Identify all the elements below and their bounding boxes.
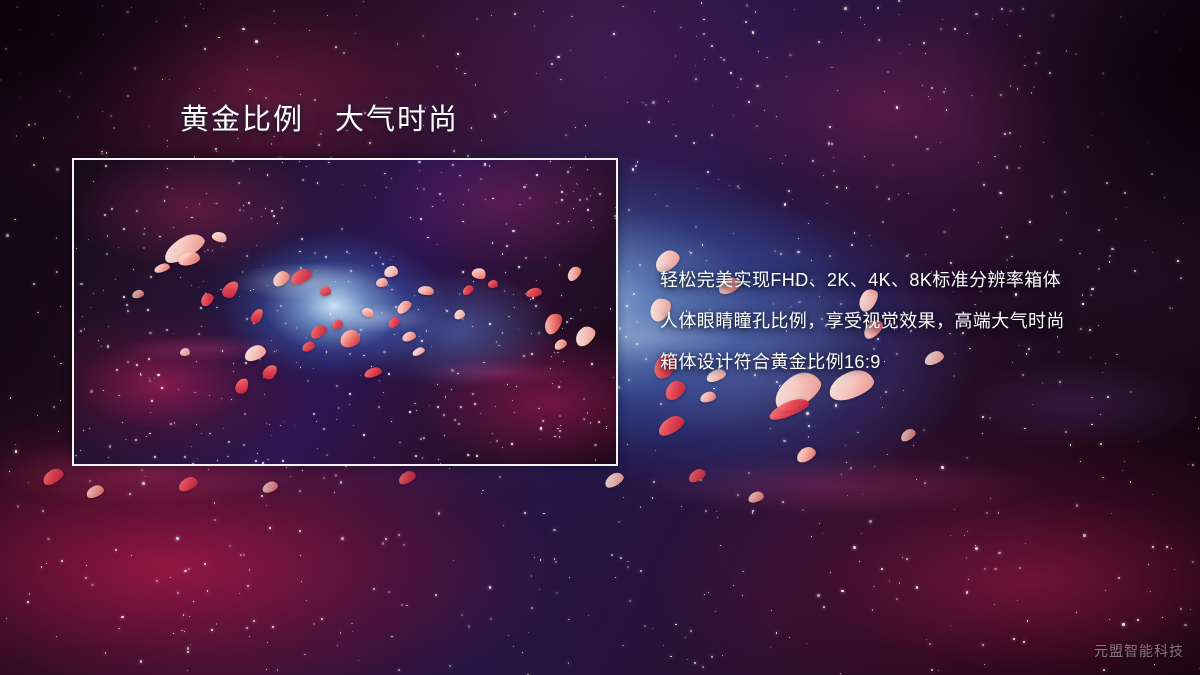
- body-text-block: 轻松完美实现FHD、2K、4K、8K标准分辨率箱体 人体眼睛瞳孔比例，享受视觉效…: [660, 260, 1152, 383]
- framed-starfield: [74, 160, 616, 464]
- presentation-slide: 黄金比例 大气时尚 轻松完美实现FHD、2K、4K、8K标准分辨率箱体 人体眼睛…: [0, 0, 1200, 675]
- page-title: 黄金比例 大气时尚: [180, 102, 459, 138]
- petal: [320, 286, 331, 296]
- body-line-1: 轻松完美实现FHD、2K、4K、8K标准分辨率箱体: [660, 260, 1152, 301]
- petal: [180, 348, 190, 356]
- watermark-label: 元盟智能科技: [1094, 641, 1184, 661]
- body-line-2: 人体眼睛瞳孔比例，享受视觉效果，高端大气时尚: [660, 301, 1152, 342]
- framed-image[interactable]: [72, 158, 618, 466]
- petal: [488, 280, 498, 288]
- body-line-3: 箱体设计符合黄金比例16:9: [660, 342, 1152, 383]
- petal: [376, 278, 388, 287]
